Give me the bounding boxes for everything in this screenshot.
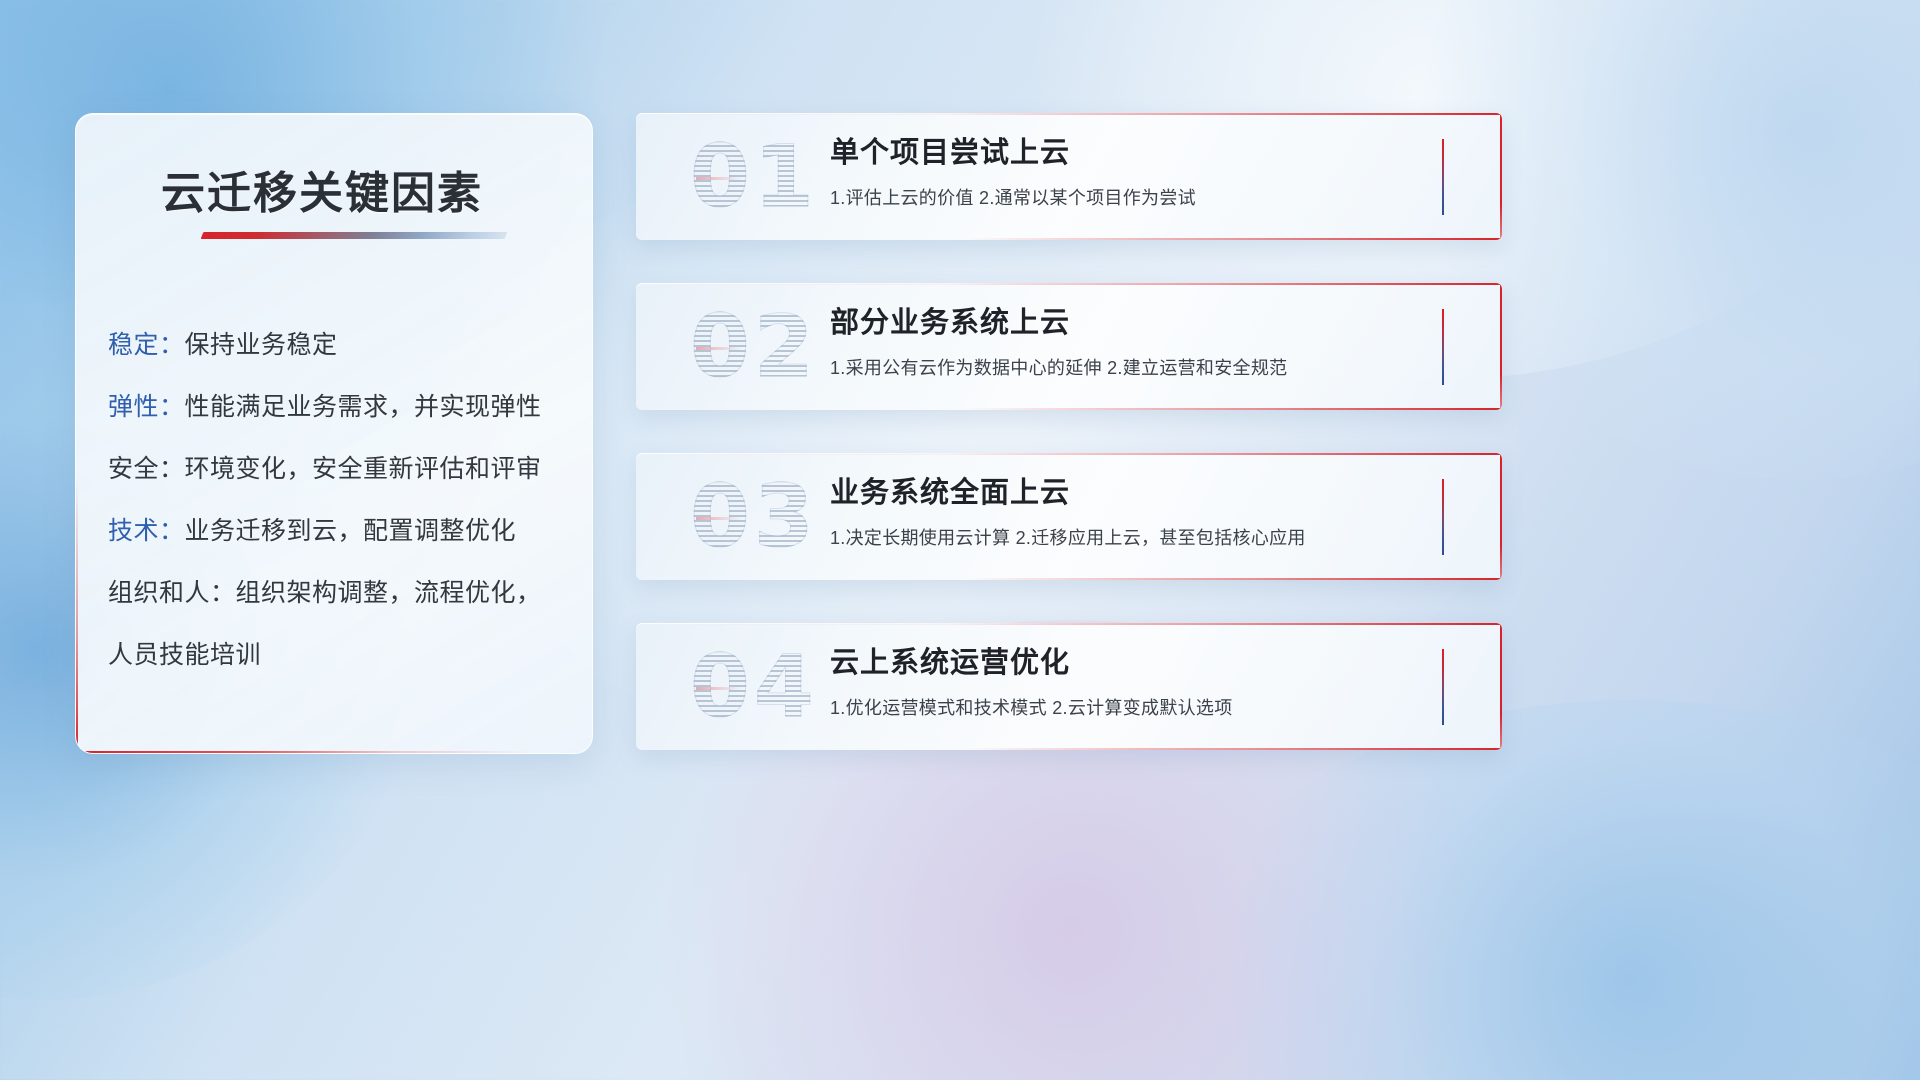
factor-text: 业务迁移到云，配置调整优化 [185, 517, 517, 545]
factor-item: 安全：环境变化，安全重新评估和评审 [108, 438, 578, 500]
page-title: 云迁移关键因素 [161, 157, 483, 221]
step-description: 1.决定长期使用云计算 2.迁移应用上云，甚至包括核心应用 [830, 525, 1476, 551]
step-text-block: 部分业务系统上云 1.采用公有云作为数据中心的延伸 2.建立运营和安全规范 [830, 303, 1476, 381]
factor-label: 技术： [108, 517, 185, 545]
step-card-04[interactable]: 04 云上系统运营优化 1.优化运营模式和技术模式 2.云计算变成默认选项 [636, 623, 1502, 750]
step-title: 业务系统全面上云 [830, 473, 1476, 513]
factor-text: 环境变化，安全重新评估和评审 [185, 455, 542, 483]
factor-item-continuation: 人员技能培训 [108, 624, 578, 686]
card-right-accent-line [1500, 453, 1502, 580]
step-text-block: 业务系统全面上云 1.决定长期使用云计算 2.迁移应用上云，甚至包括核心应用 [830, 473, 1476, 551]
factor-text: 人员技能培训 [108, 641, 261, 669]
factor-item: 组织和人：组织架构调整，流程优化， [108, 562, 578, 624]
card-right-accent-line [1500, 283, 1502, 410]
step-card-01[interactable]: 01 单个项目尝试上云 1.评估上云的价值 2.通常以某个项目作为尝试 [636, 113, 1502, 240]
factor-text: 保持业务稳定 [185, 331, 338, 359]
factor-label: 安全： [108, 455, 185, 483]
factor-item: 弹性：性能满足业务需求，并实现弹性 [108, 376, 578, 438]
step-card-02[interactable]: 02 部分业务系统上云 1.采用公有云作为数据中心的延伸 2.建立运营和安全规范 [636, 283, 1502, 410]
step-title: 云上系统运营优化 [830, 643, 1476, 683]
step-number-watermark: 03 [690, 465, 818, 569]
panel-left-accent-line [76, 453, 78, 753]
factor-text: 性能满足业务需求，并实现弹性 [185, 393, 542, 421]
card-bottom-accent-line [965, 748, 1502, 750]
card-right-accent-line [1500, 113, 1502, 240]
card-bottom-accent-line [965, 238, 1502, 240]
step-text-block: 单个项目尝试上云 1.评估上云的价值 2.通常以某个项目作为尝试 [830, 133, 1476, 211]
factor-label: 稳定： [108, 331, 185, 359]
card-top-accent-line [636, 623, 1502, 625]
step-number-watermark: 04 [690, 635, 818, 739]
step-text-block: 云上系统运营优化 1.优化运营模式和技术模式 2.云计算变成默认选项 [830, 643, 1476, 721]
step-number-watermark: 01 [690, 125, 818, 229]
step-title: 单个项目尝试上云 [830, 133, 1476, 173]
card-top-accent-line [636, 113, 1502, 115]
factor-list: 稳定：保持业务稳定 弹性：性能满足业务需求，并实现弹性 安全：环境变化，安全重新… [108, 314, 578, 686]
factor-label: 弹性： [108, 393, 185, 421]
step-description: 1.优化运营模式和技术模式 2.云计算变成默认选项 [830, 695, 1476, 721]
step-title: 部分业务系统上云 [830, 303, 1476, 343]
factor-label: 组织和人： [108, 579, 236, 607]
step-description: 1.评估上云的价值 2.通常以某个项目作为尝试 [830, 185, 1476, 211]
factor-item: 稳定：保持业务稳定 [108, 314, 578, 376]
title-underline-gradient [201, 232, 508, 239]
panel-bottom-accent-line [76, 751, 592, 753]
factor-item: 技术：业务迁移到云，配置调整优化 [108, 500, 578, 562]
card-right-accent-line [1500, 623, 1502, 750]
step-number-watermark: 02 [690, 295, 818, 399]
factor-text: 组织架构调整，流程优化， [236, 579, 542, 607]
step-description: 1.采用公有云作为数据中心的延伸 2.建立运营和安全规范 [830, 355, 1476, 381]
migration-steps-list: 01 单个项目尝试上云 1.评估上云的价值 2.通常以某个项目作为尝试 02 部… [636, 113, 1502, 793]
card-bottom-accent-line [965, 408, 1502, 410]
card-top-accent-line [636, 453, 1502, 455]
step-card-03[interactable]: 03 业务系统全面上云 1.决定长期使用云计算 2.迁移应用上云，甚至包括核心应… [636, 453, 1502, 580]
card-top-accent-line [636, 283, 1502, 285]
card-bottom-accent-line [965, 578, 1502, 580]
key-factors-panel: 云迁移关键因素 稳定：保持业务稳定 弹性：性能满足业务需求，并实现弹性 安全：环… [75, 113, 593, 754]
